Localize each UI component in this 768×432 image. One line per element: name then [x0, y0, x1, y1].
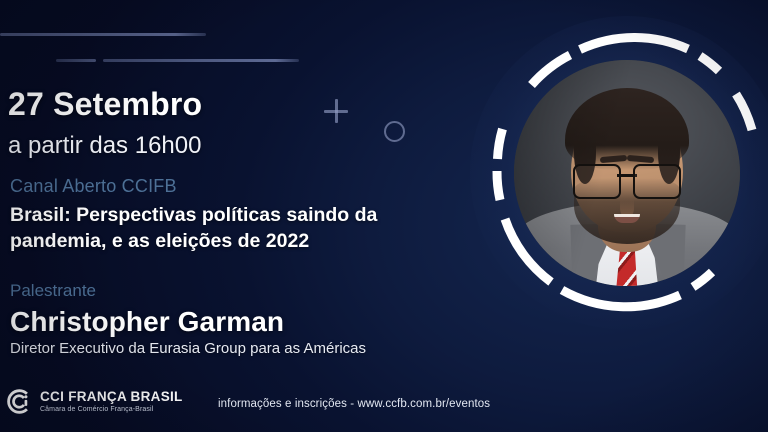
brand-logo: CCI FRANÇA BRASIL Câmara de Comércio Fra…	[6, 388, 183, 415]
speaker-portrait	[496, 42, 758, 304]
speaker-role: Diretor Executivo da Eurasia Group para …	[10, 340, 366, 357]
ccifb-logo-icon	[6, 388, 33, 415]
event-poster: 27 Setembro a partir das 16h00 Canal Abe…	[0, 0, 768, 432]
brand-logo-text: CCI FRANÇA BRASIL Câmara de Comércio Fra…	[40, 390, 183, 414]
channel-label: Canal Aberto CCIFB	[10, 176, 177, 197]
talk-title: Brasil: Perspectivas políticas saindo da…	[10, 203, 460, 255]
brand-tagline: Câmara de Comércio França-Brasil	[40, 406, 183, 413]
event-time: a partir das 16h00	[8, 132, 201, 160]
segmented-ring-icon	[474, 20, 768, 326]
info-url: informações e inscrições - www.ccfb.com.…	[218, 398, 490, 410]
speaker-name: Christopher Garman	[10, 306, 284, 338]
event-date: 27 Setembro	[8, 86, 202, 123]
brand-name: CCI FRANÇA BRASIL	[40, 390, 183, 404]
poster-text-block: 27 Setembro a partir das 16h00 Canal Abe…	[8, 0, 478, 432]
speaker-label: Palestrante	[10, 281, 96, 301]
